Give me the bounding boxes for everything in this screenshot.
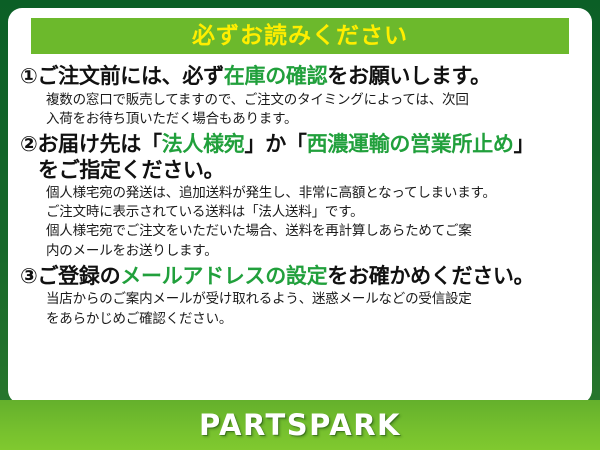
heading-highlight: メールアドレスの設定 <box>120 264 327 288</box>
heading-highlight: 法人様宛 <box>162 132 245 156</box>
header-bar: 必ずお読みください <box>31 18 569 54</box>
subtext-line: 個人様宅宛でご注文をいただいた場合、送料を再計算しあらためてご案 <box>46 222 580 241</box>
section-heading: ②お届け先は「法人様宛」か「西濃運輸の営業所止め」 <box>20 132 580 158</box>
subtext-line: 複数の窓口で販売してますので、ご注文のタイミングによっては、次回 <box>46 91 580 110</box>
outer-frame: 必ずお読みください ①ご注文前には、必ず在庫の確認をお願いします。複数の窓口で販… <box>0 0 600 450</box>
heading-text: ご注文前には、必ず <box>37 64 223 88</box>
notice-section: ③ご登録のメールアドレスの設定をお確かめください。当店からのご案内メールが受け取… <box>20 264 580 329</box>
heading-text: 」 <box>514 132 535 156</box>
subtext-line: 個人様宅宛の発送は、追加送料が発生し、非常に高額となってしまいます。 <box>46 184 580 203</box>
subtext-line: 入荷をお待ち頂いただく場合もあります。 <box>46 110 580 129</box>
subtext-line: ご注文時に表示されている送料は「法人送料」です。 <box>46 203 580 222</box>
section-number-icon: ① <box>20 64 37 88</box>
heading-text: 」か「 <box>245 132 307 156</box>
section-heading: ③ご登録のメールアドレスの設定をお確かめください。 <box>20 264 580 290</box>
heading-text: ご登録の <box>37 264 120 288</box>
section-number-icon: ② <box>20 132 37 156</box>
notice-card: 必ずお読みください ①ご注文前には、必ず在庫の確認をお願いします。複数の窓口で販… <box>8 8 592 404</box>
subtext-line: 当店からのご案内メールが受け取れるよう、迷惑メールなどの受信設定 <box>46 290 580 309</box>
section-subtext: 当店からのご案内メールが受け取れるよう、迷惑メールなどの受信設定をあらかじめご確… <box>20 290 580 328</box>
footer-brand-band: PARTSPARK <box>0 400 600 450</box>
section-subtext: 個人様宅宛の発送は、追加送料が発生し、非常に高額となってしまいます。ご注文時に表… <box>20 184 580 261</box>
section-heading-line2: をご指定ください。 <box>20 158 580 184</box>
heading-highlight: 西濃運輸の営業所止め <box>307 132 514 156</box>
notice-section: ②お届け先は「法人様宛」か「西濃運輸の営業所止め」をご指定ください。個人様宅宛の… <box>20 132 580 261</box>
heading-highlight: 在庫の確認 <box>224 64 328 88</box>
subtext-line: 内のメールをお送りします。 <box>46 242 580 261</box>
heading-text: をお願いします。 <box>327 64 491 88</box>
brand-name: PARTSPARK <box>199 408 401 442</box>
section-subtext: 複数の窓口で販売してますので、ご注文のタイミングによっては、次回入荷をお待ち頂い… <box>20 91 580 129</box>
section-heading: ①ご注文前には、必ず在庫の確認をお願いします。 <box>20 64 580 90</box>
heading-text: をお確かめください。 <box>327 264 534 288</box>
notice-section: ①ご注文前には、必ず在庫の確認をお願いします。複数の窓口で販売してますので、ご注… <box>20 64 580 129</box>
heading-text: お届け先は「 <box>37 132 161 156</box>
notice-body: ①ご注文前には、必ず在庫の確認をお願いします。複数の窓口で販売してますので、ご注… <box>8 64 592 332</box>
subtext-line: をあらかじめご確認ください。 <box>46 310 580 329</box>
page-title: 必ずお読みください <box>192 25 408 48</box>
section-number-icon: ③ <box>20 264 37 288</box>
